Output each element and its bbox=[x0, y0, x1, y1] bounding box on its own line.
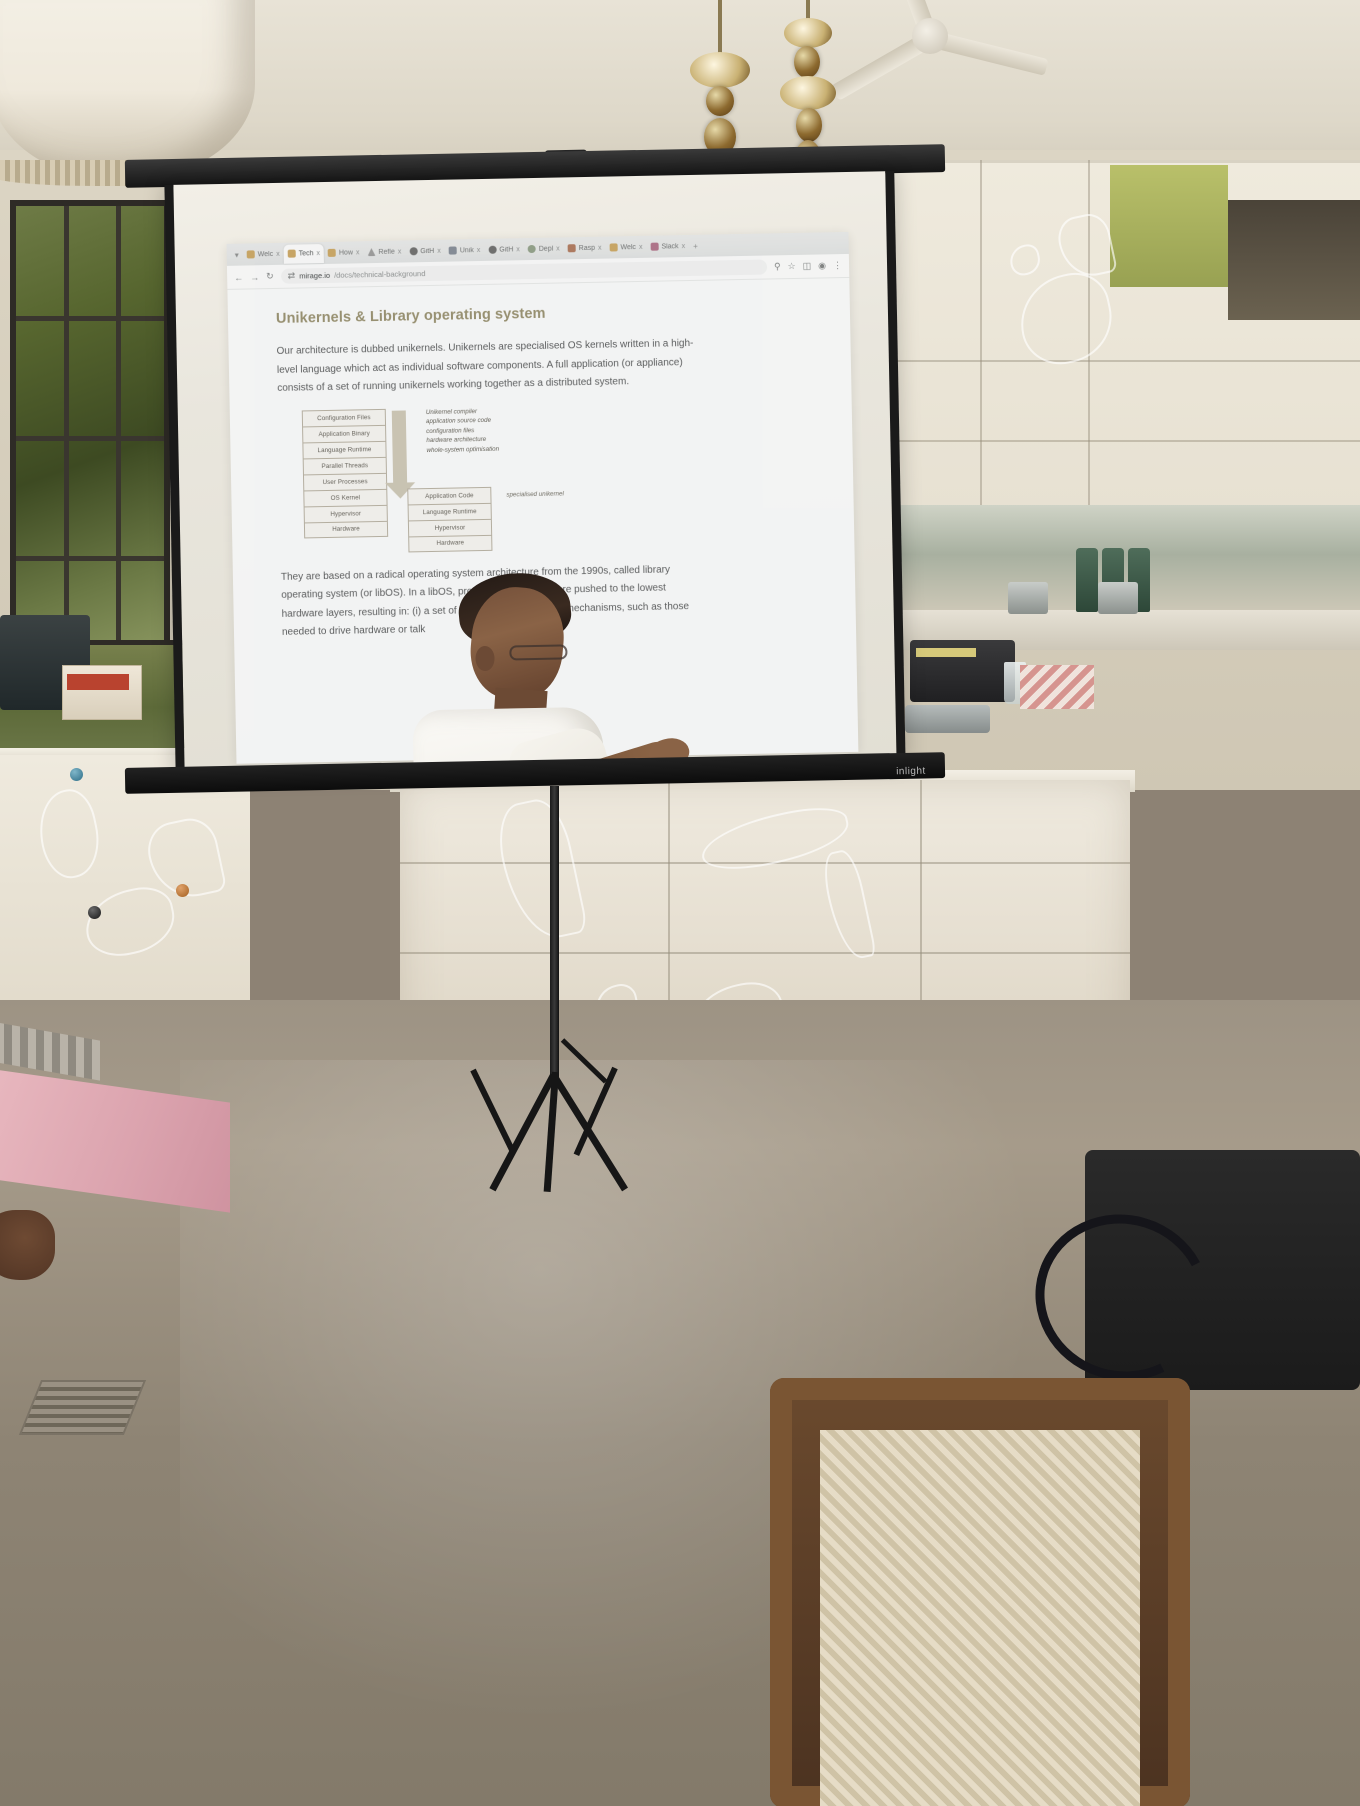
tab-label: Welc bbox=[258, 250, 274, 257]
browser-tab-6[interactable]: GitH x bbox=[484, 240, 524, 260]
kitchen-appliance bbox=[910, 640, 1015, 702]
kebab-menu-icon[interactable]: ⋮ bbox=[833, 260, 842, 271]
profile-icon[interactable]: ◉ bbox=[818, 260, 826, 271]
cabinet-knob[interactable] bbox=[88, 906, 101, 919]
mirage-icon bbox=[247, 250, 255, 258]
tab-label: Refle bbox=[378, 248, 394, 255]
presenter bbox=[396, 570, 704, 777]
tab-label: Unik bbox=[460, 247, 474, 254]
triangle-icon bbox=[367, 248, 375, 256]
ornament-disc bbox=[780, 76, 836, 110]
browser-tab-10[interactable]: Slack x bbox=[646, 237, 689, 257]
close-icon[interactable]: x bbox=[276, 250, 280, 257]
github-icon bbox=[488, 246, 496, 254]
sink bbox=[905, 705, 990, 733]
close-icon[interactable]: x bbox=[516, 246, 520, 253]
unikernel-stack: Application Code Language Runtime Hyperv… bbox=[407, 486, 492, 552]
kitchen-towel bbox=[1020, 665, 1094, 709]
tab-label: Tech bbox=[299, 250, 314, 257]
projection-screen: ▾ Welc x Tech x How x bbox=[164, 171, 905, 777]
search-icon[interactable]: ⚲ bbox=[774, 261, 781, 272]
stack-cell: Application Code bbox=[407, 486, 491, 504]
compiler-annotation: Unikernel compiler application source co… bbox=[426, 405, 547, 455]
close-icon[interactable]: x bbox=[639, 243, 643, 250]
projector-brand-label: inlight bbox=[880, 762, 942, 781]
close-icon[interactable]: x bbox=[316, 250, 320, 257]
close-icon[interactable]: x bbox=[556, 245, 560, 252]
close-icon[interactable]: x bbox=[682, 243, 686, 250]
traditional-stack: Configuration Files Application Binary L… bbox=[302, 408, 388, 538]
stack-cell: Configuration Files bbox=[302, 408, 386, 426]
room-scene: ▾ Welc x Tech x How x bbox=[0, 0, 1360, 1806]
tab-label: Depl bbox=[539, 245, 554, 252]
tab-label: Rasp bbox=[579, 244, 595, 251]
stack-cell: Language Runtime bbox=[408, 502, 492, 520]
browser-tab-4[interactable]: GitH x bbox=[405, 241, 445, 261]
stack-cell: Hypervisor bbox=[408, 518, 492, 536]
new-tab-button[interactable]: + bbox=[689, 241, 702, 250]
cardboard-box bbox=[62, 665, 142, 720]
url-domain: mirage.io bbox=[299, 271, 330, 281]
stack-cell: User Processes bbox=[303, 472, 387, 490]
close-icon[interactable]: x bbox=[356, 249, 360, 256]
page-title: Unikernels & Library operating system bbox=[276, 301, 810, 327]
bottle bbox=[1076, 548, 1098, 612]
pot bbox=[1008, 582, 1048, 614]
slack-icon bbox=[650, 243, 658, 251]
cabinet-knob[interactable] bbox=[176, 884, 189, 897]
stack-cell: OS Kernel bbox=[303, 488, 387, 506]
island-seam bbox=[400, 952, 1130, 954]
ornament-bead bbox=[796, 108, 822, 142]
reload-icon[interactable]: ↻ bbox=[266, 271, 274, 282]
stack-cell: Parallel Threads bbox=[303, 456, 387, 474]
browser-tab-0[interactable]: Welc x bbox=[243, 244, 284, 264]
ceiling-fan-hub bbox=[912, 18, 948, 54]
globe-icon bbox=[528, 245, 536, 253]
floor-vent bbox=[19, 1380, 146, 1435]
pot bbox=[1098, 582, 1138, 614]
mirage-icon bbox=[288, 250, 296, 258]
chair-cane-seat bbox=[820, 1430, 1140, 1806]
close-icon[interactable]: x bbox=[598, 244, 602, 251]
arrow-down-icon bbox=[392, 410, 407, 484]
github-icon bbox=[409, 247, 417, 255]
cabinet-seam bbox=[880, 440, 1360, 442]
browser-tab-2[interactable]: How x bbox=[324, 243, 364, 263]
close-icon[interactable]: x bbox=[398, 248, 402, 255]
browser-tab-9[interactable]: Welc x bbox=[605, 237, 646, 257]
cabinet-seam bbox=[980, 160, 982, 510]
glasses bbox=[509, 644, 567, 660]
arrow-left-icon[interactable]: ← bbox=[234, 272, 243, 282]
browser-tab-1[interactable]: Tech x bbox=[283, 244, 324, 264]
stack-cell: Hardware bbox=[304, 520, 388, 538]
ornament-disc bbox=[784, 18, 832, 48]
ornament-bead bbox=[794, 46, 820, 78]
stack-cell: Application Binary bbox=[302, 424, 386, 442]
ornament-string bbox=[718, 0, 722, 60]
paragraph-1: Our architecture is dubbed unikernels. U… bbox=[276, 335, 697, 399]
tripod-pole bbox=[550, 786, 559, 1086]
url-path: /docs/technical-background bbox=[334, 269, 425, 280]
star-icon[interactable]: ☆ bbox=[788, 261, 796, 272]
cabinet-seam bbox=[880, 360, 1360, 362]
mirage-icon bbox=[609, 243, 617, 251]
dark-cabinet-panel bbox=[1228, 200, 1360, 320]
tab-label: GitH bbox=[420, 247, 434, 254]
unikernel-diagram: Configuration Files Application Binary L… bbox=[302, 400, 815, 558]
doc-icon bbox=[568, 244, 576, 252]
browser-tab-5[interactable]: Unik x bbox=[445, 240, 485, 260]
brace-label: specialised unikernel bbox=[506, 489, 576, 500]
browser-tab-3[interactable]: Refle x bbox=[363, 242, 405, 262]
window-greenery bbox=[10, 200, 170, 670]
annotation-text: Unikernel compiler application source co… bbox=[426, 408, 499, 454]
close-icon[interactable]: x bbox=[477, 247, 481, 254]
book-icon bbox=[449, 246, 457, 254]
browser-tab-7[interactable]: Depl x bbox=[524, 239, 564, 259]
stack-cell: Hypervisor bbox=[304, 504, 388, 522]
tune-icon[interactable]: ⇄ bbox=[288, 271, 296, 282]
tab-label: Slack bbox=[661, 243, 678, 250]
stack-cell: Hardware bbox=[408, 534, 492, 552]
browser-tab-8[interactable]: Rasp x bbox=[564, 238, 606, 258]
tab-label: GitH bbox=[499, 246, 513, 253]
arrow-right-icon[interactable]: → bbox=[250, 272, 259, 282]
close-icon[interactable]: x bbox=[437, 247, 441, 254]
seated-person-foot bbox=[0, 1210, 55, 1280]
side-panel-icon[interactable]: ◫ bbox=[803, 261, 812, 272]
ornament-bead bbox=[706, 86, 734, 116]
stack-cell: Language Runtime bbox=[302, 440, 386, 458]
chevron-down-icon[interactable]: ▾ bbox=[231, 250, 243, 259]
toolbar-actions[interactable]: ⚲ ☆ ◫ ◉ ⋮ bbox=[774, 260, 842, 272]
tab-label: How bbox=[339, 249, 353, 256]
mirage-icon bbox=[328, 249, 336, 257]
green-cabinet-panel bbox=[1110, 165, 1228, 287]
tab-label: Welc bbox=[620, 244, 636, 251]
brace-icon bbox=[493, 486, 504, 520]
ornament-disc bbox=[690, 52, 750, 88]
cabinet-knob[interactable] bbox=[70, 768, 83, 781]
